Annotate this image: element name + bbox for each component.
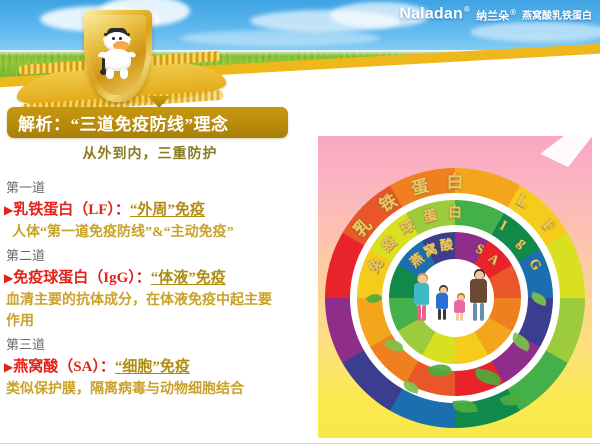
- person-leg: [422, 305, 426, 321]
- page-root: Naladan® 纳兰朵® 燕窝酸乳铁蛋白 解析：“三道免疫防线”理念 从外到内…: [0, 0, 600, 444]
- triangle-bullet-icon: ▶: [4, 360, 13, 374]
- ring-label-char: S: [474, 240, 487, 258]
- mascot-leg: [106, 69, 114, 79]
- defense-line-name: 免疫球蛋白（IgG）：: [13, 270, 151, 286]
- trademark-icon-cn: ®: [510, 8, 516, 17]
- defense-line-item-3: 第三道 ▶燕窝酸（SA）：“细胞”免疫 类似保护膜，隔离病毒与动物细胞结合: [0, 333, 302, 400]
- brand-name-cn: 纳兰朵®: [476, 9, 516, 23]
- defense-line-name: 燕窝酸（SA）：: [13, 359, 115, 375]
- defense-lines-list: 第一道 ▶乳铁蛋白（LF）：“外周”免疫 人体“第一道免疫防线”&“主动免疫” …: [0, 176, 302, 401]
- mascot-leg: [120, 69, 128, 79]
- defense-line-description: 人体“第一道免疫防线”&“主动免疫”: [0, 222, 302, 243]
- defense-line-heading: ▶燕窝酸（SA）：“细胞”免疫: [0, 356, 302, 379]
- defense-line-heading: ▶免疫球蛋白（IgG）：“体液”免疫: [0, 267, 302, 290]
- defense-line-number: 第二道: [0, 244, 302, 267]
- page-title-bar: 解析：“三道免疫防线”理念: [7, 107, 288, 138]
- defense-line-highlight: “细胞”免疫: [115, 359, 190, 375]
- person-torso: [470, 279, 487, 303]
- person-leg: [456, 313, 459, 321]
- defense-line-highlight: “体液”免疫: [151, 270, 226, 286]
- person-leg: [443, 309, 446, 320]
- person-torso: [436, 293, 448, 309]
- mascot-ear: [103, 37, 110, 42]
- person-torso: [454, 300, 465, 313]
- page-subtitle: 从外到内，三重防护: [0, 143, 300, 163]
- triangle-bullet-icon: ▶: [4, 271, 13, 285]
- defense-line-number: 第三道: [0, 333, 302, 356]
- defense-line-description-cont: 作用: [0, 311, 302, 332]
- mascot-eye: [119, 37, 122, 40]
- defense-line-item-1: 第一道 ▶乳铁蛋白（LF）：“外周”免疫 人体“第一道免疫防线”&“主动免疫”: [0, 176, 302, 243]
- shield-mascot-group: [62, 10, 172, 110]
- brand-name-en: Naladan®: [399, 6, 470, 22]
- defense-line-heading: ▶乳铁蛋白（LF）：“外周”免疫: [0, 199, 302, 222]
- ring-label-char: A: [485, 250, 502, 268]
- defense-line-name: 乳铁蛋白（LF）：: [13, 202, 130, 218]
- person-leg: [417, 305, 421, 321]
- mascot-body: [103, 49, 131, 71]
- cloud-decoration: [470, 22, 600, 42]
- defense-line-number: 第一道: [0, 176, 302, 199]
- ring-label-char: 酸: [439, 233, 454, 254]
- person-leg: [480, 303, 484, 321]
- triangle-bullet-icon: ▶: [4, 203, 13, 217]
- defense-line-description: 类似保护膜，隔离病毒与动物细胞结合: [0, 379, 302, 400]
- mascot-eye: [112, 37, 115, 40]
- person-leg: [438, 309, 441, 320]
- immunity-wheel-chart: 乳铁蛋白LF免疫球蛋白IgG燕窝酸SA: [325, 168, 585, 428]
- defense-line-highlight: “外周”免疫: [130, 202, 205, 218]
- page-title: 解析：“三道免疫防线”理念: [7, 110, 229, 135]
- brand-name-cn-text: 纳兰朵: [476, 10, 509, 22]
- immunity-wheel-panel: 乳铁蛋白LF免疫球蛋白IgG燕窝酸SA: [318, 136, 592, 438]
- hero-banner: Naladan® 纳兰朵® 燕窝酸乳铁蛋白: [0, 0, 600, 110]
- person-torso: [414, 283, 429, 305]
- mascot-tail: [102, 58, 105, 72]
- cow-mascot-icon: [100, 32, 134, 80]
- brand-descriptor: 燕窝酸乳铁蛋白: [522, 11, 592, 22]
- defense-line-item-2: 第二道 ▶免疫球蛋白（IgG）：“体液”免疫 血清主要的抗体成分，在体液免疫中起…: [0, 244, 302, 332]
- brand-name-en-text: Naladan: [399, 5, 463, 22]
- brand-lockup: Naladan® 纳兰朵® 燕窝酸乳铁蛋白: [399, 6, 592, 22]
- defense-line-description: 血清主要的抗体成分，在体液免疫中起主要: [0, 290, 302, 311]
- trademark-icon: ®: [464, 5, 470, 14]
- person-leg: [460, 313, 463, 321]
- person-leg: [473, 303, 477, 321]
- family-illustration: [412, 269, 498, 325]
- cloud-decoration: [180, 30, 380, 46]
